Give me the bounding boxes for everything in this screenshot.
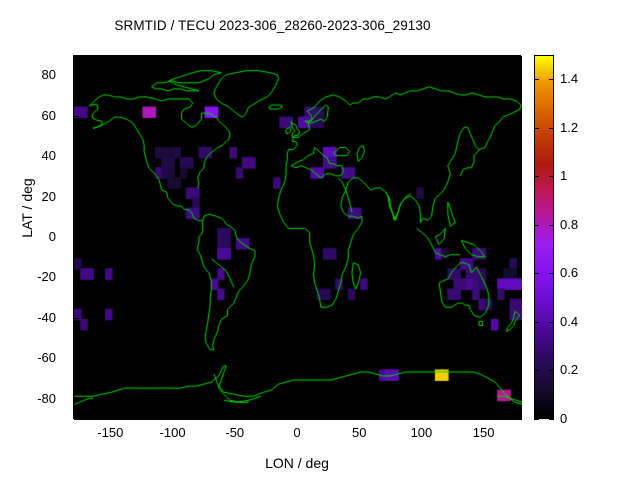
x-tick-mark (110, 413, 111, 419)
x-tick-label: 50 (329, 426, 389, 439)
colorbar[interactable] (534, 55, 554, 419)
x-tick-label: -100 (143, 426, 203, 439)
y-tick-mark (73, 197, 79, 198)
colorbar-tick-mark (549, 419, 554, 420)
y-tick-mark (73, 75, 79, 76)
y-tick-label: 0 (0, 230, 56, 243)
colorbar-tick-label: 0.8 (560, 218, 578, 231)
y-tick-mark (73, 399, 79, 400)
colorbar-tick-mark (549, 176, 554, 177)
colorbar-tick-mark (534, 79, 539, 80)
colorbar-tick-mark (549, 225, 554, 226)
y-tick-label: -20 (0, 270, 56, 283)
colorbar-tick-label: 1 (560, 169, 567, 182)
x-tick-label: -50 (205, 426, 265, 439)
colorbar-tick-mark (534, 370, 539, 371)
colorbar-tick-mark (534, 419, 539, 420)
y-tick-mark (73, 237, 79, 238)
y-tick-mark (73, 116, 79, 117)
y-tick-mark (73, 318, 79, 319)
y-tick-label: 20 (0, 190, 56, 203)
colorbar-tick-label: 0.4 (560, 315, 578, 328)
y-tick-mark (73, 156, 79, 157)
colorbar-tick-mark (549, 128, 554, 129)
x-axis-label: LON / deg (73, 455, 521, 471)
y-tick-label: -80 (0, 392, 56, 405)
page-title: SRMTID / TECU 2023-306_28260-2023-306_29… (0, 18, 545, 33)
x-tick-label: 100 (391, 426, 451, 439)
x-tick-label: 0 (267, 426, 327, 439)
x-tick-mark (297, 413, 298, 419)
tec-heatmap-canvas[interactable] (74, 56, 522, 420)
y-tick-label: 40 (0, 149, 56, 162)
colorbar-tick-label: 1.2 (560, 121, 578, 134)
map-plot-area[interactable] (73, 55, 521, 419)
colorbar-tick-mark (534, 273, 539, 274)
y-tick-mark (73, 358, 79, 359)
y-tick-mark (73, 277, 79, 278)
figure-canvas: SRMTID / TECU 2023-306_28260-2023-306_29… (0, 0, 640, 480)
y-tick-label: 60 (0, 109, 56, 122)
colorbar-tick-mark (534, 176, 539, 177)
x-tick-mark (359, 413, 360, 419)
y-tick-label: -40 (0, 311, 56, 324)
colorbar-tick-mark (549, 322, 554, 323)
x-tick-mark (421, 413, 422, 419)
colorbar-tick-label: 0 (560, 412, 567, 425)
colorbar-tick-mark (534, 322, 539, 323)
colorbar-gradient (534, 55, 554, 419)
colorbar-tick-label: 0.6 (560, 266, 578, 279)
colorbar-tick-mark (534, 225, 539, 226)
y-tick-label: -60 (0, 351, 56, 364)
x-tick-mark (235, 413, 236, 419)
colorbar-tick-mark (534, 128, 539, 129)
colorbar-tick-label: 0.2 (560, 363, 578, 376)
colorbar-tick-mark (549, 370, 554, 371)
y-tick-label: 80 (0, 68, 56, 81)
colorbar-tick-mark (549, 79, 554, 80)
x-tick-label: -150 (80, 426, 140, 439)
x-tick-label: 150 (454, 426, 514, 439)
x-tick-mark (484, 413, 485, 419)
x-tick-mark (173, 413, 174, 419)
colorbar-tick-label: 1.4 (560, 72, 578, 85)
colorbar-tick-mark (549, 273, 554, 274)
